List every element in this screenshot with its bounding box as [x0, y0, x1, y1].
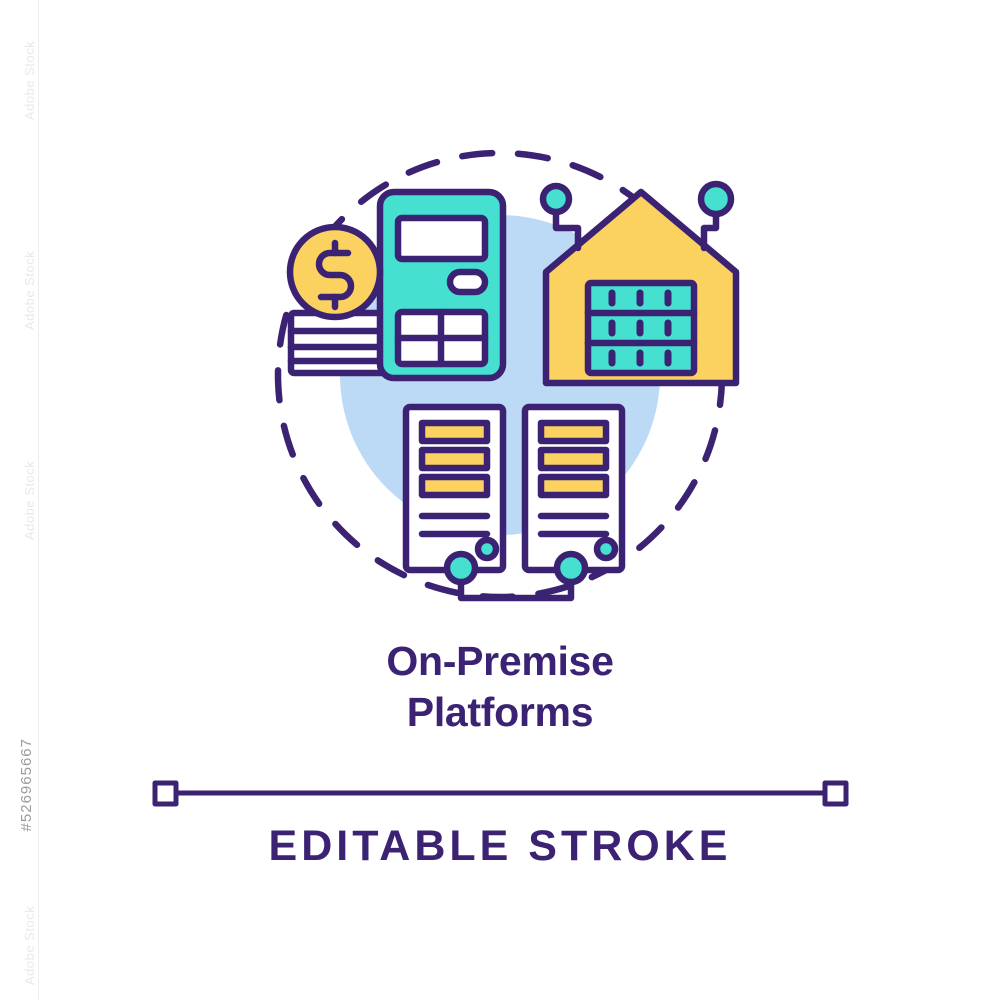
editable-stroke-caption: EDITABLE STROKE — [0, 822, 1000, 871]
server-rack-icon — [406, 407, 503, 570]
stock-image-canvas: Adobe Stock Adobe Stock Adobe Stock Adob… — [0, 0, 1000, 1000]
page-title-line-2: Platforms — [0, 687, 1000, 738]
network-node-icon — [447, 554, 585, 598]
page-title: On-Premise Platforms — [0, 636, 1000, 738]
house-datacenter-icon — [546, 192, 736, 383]
stroke-line-icon — [155, 783, 846, 804]
cash-stack-icon — [291, 313, 383, 373]
server-rack-icon — [525, 407, 622, 570]
payment-terminal-icon — [380, 192, 503, 378]
page-title-line-1: On-Premise — [0, 636, 1000, 687]
dollar-coin-icon — [290, 227, 380, 317]
